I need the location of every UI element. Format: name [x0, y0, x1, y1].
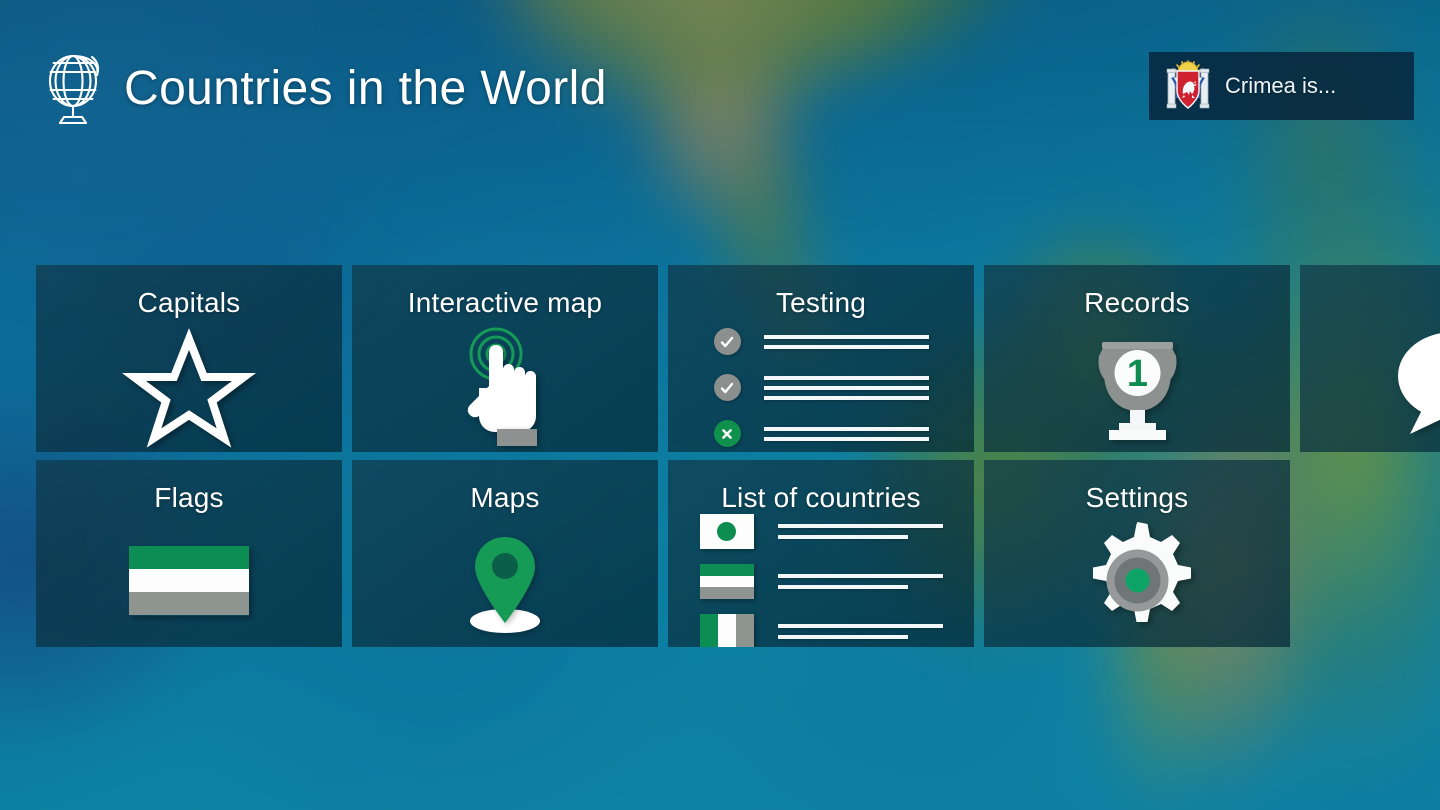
flag-disc [717, 522, 736, 541]
line-stack [764, 376, 929, 400]
app-header: Countries in the World [0, 0, 1440, 170]
tile-grid: Capitals Interactive map [36, 265, 1440, 647]
line-stack [778, 524, 943, 539]
line-stack [764, 427, 929, 441]
tile-label: Flags [36, 482, 342, 514]
tile-empty-slot [1300, 460, 1440, 647]
placeholder-line [764, 427, 929, 431]
tile-label: Interactive map [352, 287, 658, 319]
flag-band-green [700, 564, 754, 576]
tile-art: 1 [984, 327, 1290, 444]
tile-label: Testing [668, 287, 974, 319]
app-root: Countries in the World [0, 0, 1440, 810]
flag-vertical-tricolor-icon [700, 614, 754, 647]
placeholder-line [764, 345, 929, 349]
line-stack [764, 335, 929, 349]
flag-band-white [718, 614, 736, 647]
tile-capitals[interactable]: Capitals [36, 265, 342, 452]
globe-on-stand-icon [44, 48, 106, 130]
tile-flags[interactable]: Flags [36, 460, 342, 647]
check-badge-icon [714, 374, 741, 401]
crimea-coat-of-arms-icon [1165, 58, 1211, 114]
placeholder-line [764, 396, 929, 400]
tile-art [36, 327, 342, 444]
placeholder-line [778, 585, 908, 589]
checklist [714, 324, 929, 447]
tile-label: List of countries [668, 482, 974, 514]
notification-chip[interactable]: Crimea is... [1149, 52, 1414, 120]
country-list [700, 512, 943, 647]
tap-hand-icon [445, 326, 565, 446]
title-block: Countries in the World [44, 48, 607, 130]
trophy-rank-number: 1 [1126, 353, 1147, 395]
notification-label: Crimea is... [1225, 73, 1336, 99]
flag-band-grey [129, 592, 249, 615]
star-outline-icon [134, 333, 244, 438]
tile-label: Capitals [36, 287, 342, 319]
tile-testing[interactable]: Testing [668, 265, 974, 452]
checklist-row [714, 328, 929, 355]
flag-band-grey [736, 614, 754, 647]
tile-art [36, 522, 342, 639]
placeholder-line [778, 524, 943, 528]
placeholder-line [778, 535, 908, 539]
tile-art [1300, 327, 1440, 444]
placeholder-line [778, 574, 943, 578]
tile-art [352, 522, 658, 639]
placeholder-line [778, 635, 908, 639]
tile-list-of-countries[interactable]: List of countries [668, 460, 974, 647]
tile-art [352, 327, 658, 444]
check-badge-icon [714, 328, 741, 355]
flag-band-white [700, 576, 754, 588]
page-title: Countries in the World [124, 65, 607, 113]
placeholder-line [764, 376, 929, 380]
flag-band-green [700, 614, 718, 647]
map-pin-icon [450, 523, 560, 638]
tile-art [668, 522, 974, 639]
line-stack [778, 574, 943, 589]
tile-settings[interactable]: Settings [984, 460, 1290, 647]
tile-label: Records [984, 287, 1290, 319]
tricolor-flag-icon [129, 546, 249, 616]
tile-label: Maps [352, 482, 658, 514]
flag-horizontal-tricolor-icon [700, 564, 754, 599]
gear-icon [1075, 518, 1200, 643]
country-list-item [700, 514, 943, 549]
country-list-item [700, 564, 943, 599]
country-list-item [700, 614, 943, 647]
tile-interactive-map[interactable]: Interactive map [352, 265, 658, 452]
line-stack [778, 624, 943, 639]
placeholder-line [764, 335, 929, 339]
tile-label: Settings [984, 482, 1290, 514]
checklist-row [714, 420, 929, 447]
flag-white-green-circle-icon [700, 514, 754, 549]
tile-records[interactable]: Records [984, 265, 1290, 452]
cross-badge-icon [714, 420, 741, 447]
placeholder-line [764, 386, 929, 390]
flag-band-green [129, 546, 249, 569]
flag-band-grey [700, 587, 754, 599]
tile-maps[interactable]: Maps [352, 460, 658, 647]
tile-art [984, 522, 1290, 639]
speech-bubble-icon [1388, 328, 1440, 443]
checklist-row [714, 374, 929, 401]
flag-band-white [129, 569, 249, 592]
tile-help[interactable]: H [1300, 265, 1440, 452]
tile-art [668, 327, 974, 444]
placeholder-line [764, 437, 929, 441]
placeholder-line [778, 624, 943, 628]
tile-label: H [1300, 287, 1440, 319]
trophy-icon: 1 [1075, 328, 1200, 443]
